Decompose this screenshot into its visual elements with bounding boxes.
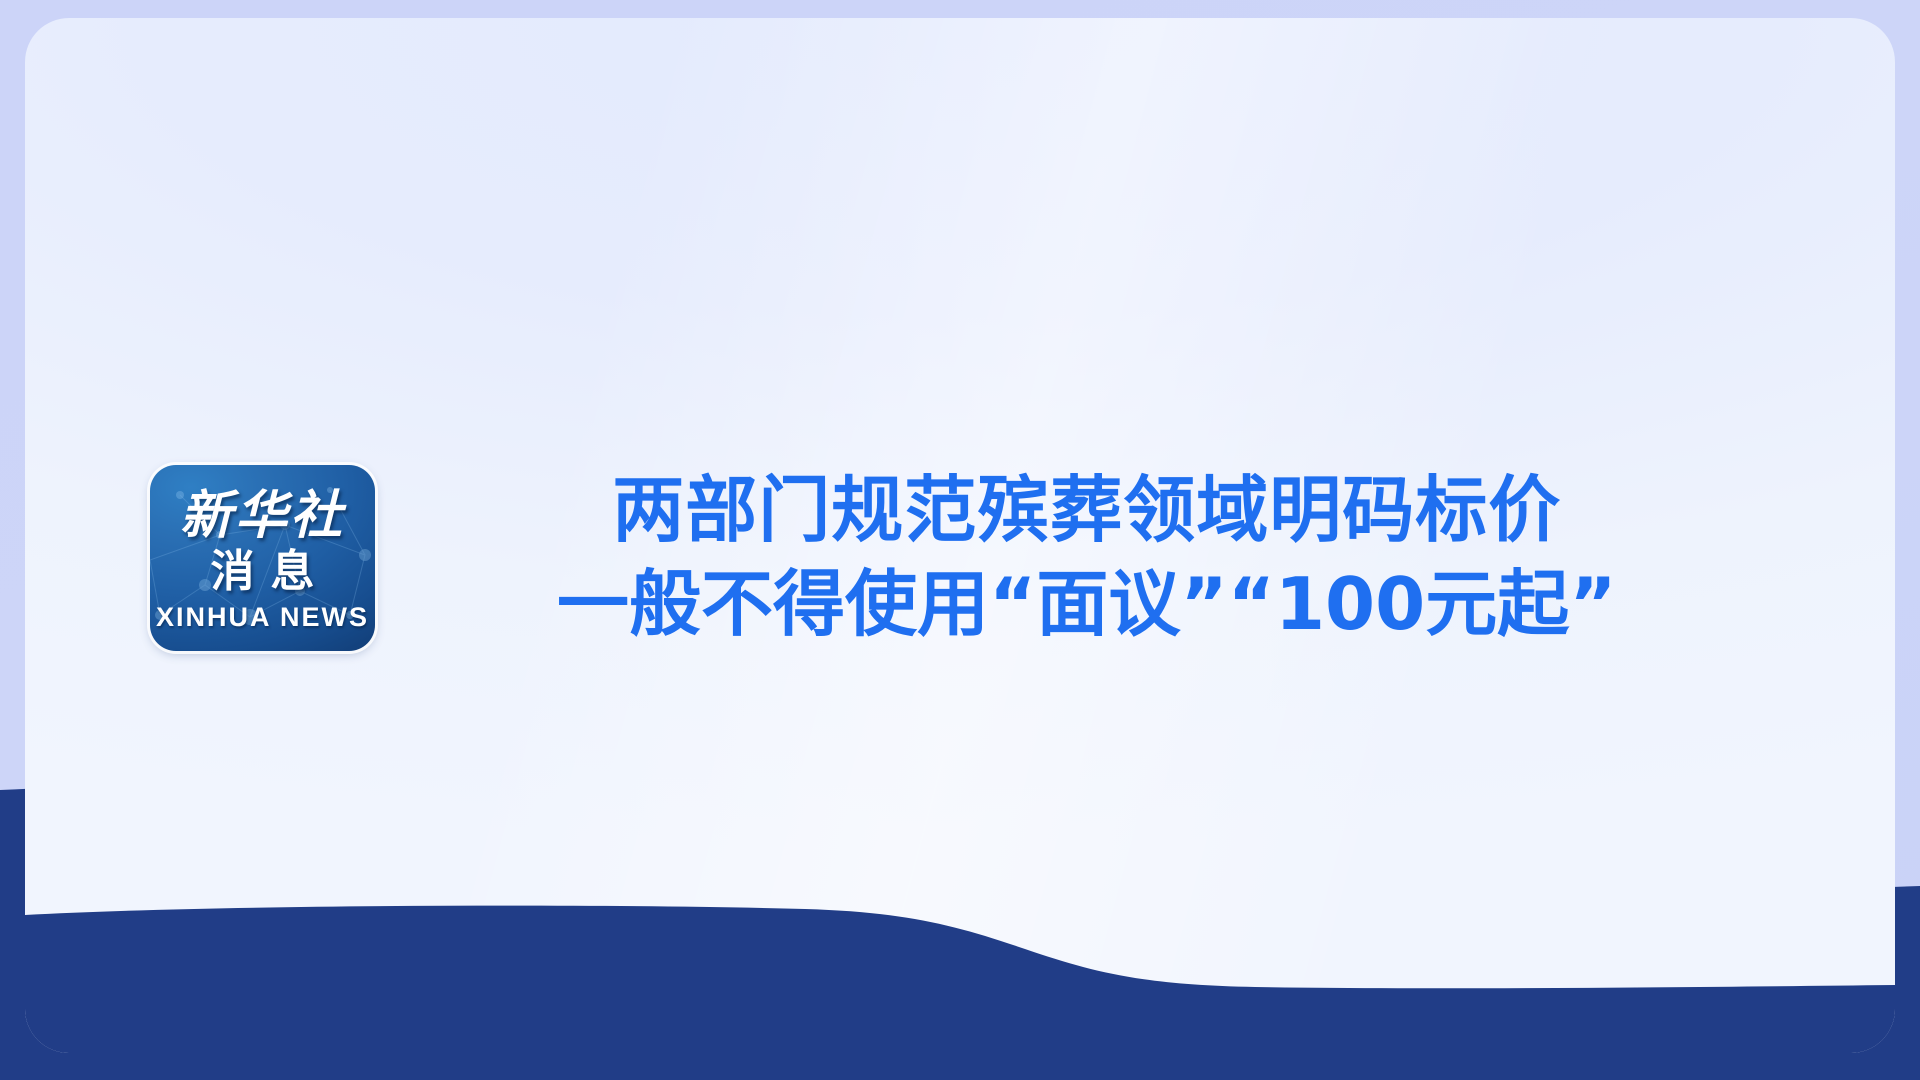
- headline-line-1: 两部门规范殡葬领域明码标价: [557, 464, 1617, 558]
- content-card: 新华社 消息 XINHUA NEWS 两部门规范殡葬领域明码标价 一般不得使用“…: [25, 18, 1895, 1053]
- headline-block: 两部门规范殡葬领域明码标价 一般不得使用“面议”“100元起”: [557, 464, 1617, 651]
- content-row: 新华社 消息 XINHUA NEWS 两部门规范殡葬领域明码标价 一般不得使用“…: [25, 464, 1895, 651]
- headline-line-2: 一般不得使用“面议”“100元起”: [557, 558, 1617, 652]
- poster-canvas: 新华社 消息 XINHUA NEWS 两部门规范殡葬领域明码标价 一般不得使用“…: [0, 0, 1920, 1080]
- logo-brand-en: XINHUA NEWS: [156, 604, 369, 631]
- logo-subtitle-cn: 消息: [195, 550, 331, 594]
- navy-wave-inner: [25, 873, 1895, 1053]
- xinhua-news-logo: 新华社 消息 XINHUA NEWS: [150, 465, 375, 651]
- logo-brand-cn: 新华社: [180, 490, 345, 542]
